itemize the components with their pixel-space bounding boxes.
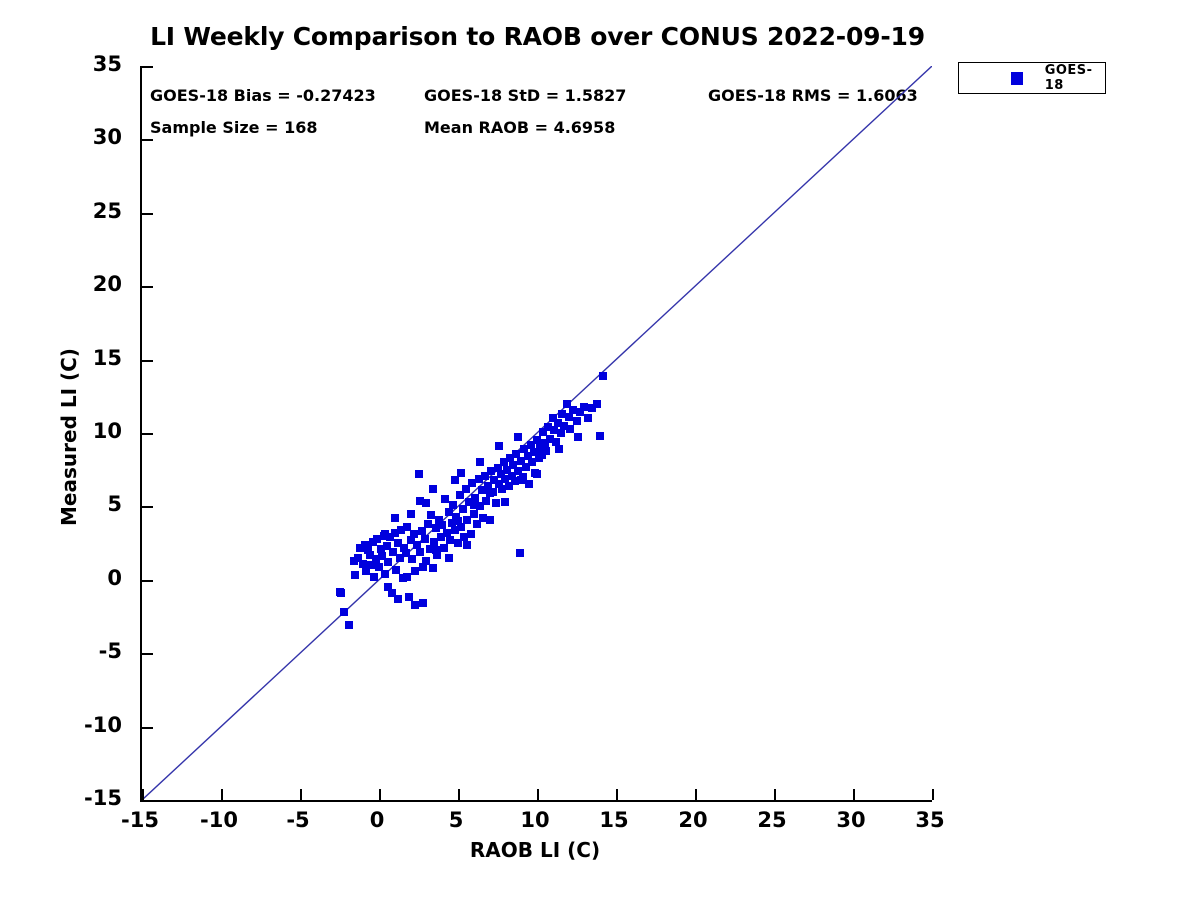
x-ticklabel: 5 (411, 808, 501, 832)
data-point (351, 571, 359, 579)
data-point (419, 563, 427, 571)
y-tick (142, 580, 153, 582)
data-point (459, 505, 467, 513)
y-axis-label: Measured LI (C) (57, 70, 81, 804)
y-tick (142, 727, 153, 729)
x-tick (774, 789, 776, 800)
data-point (463, 541, 471, 549)
y-tick (142, 800, 153, 802)
one-to-one-reference-line (142, 66, 932, 800)
x-tick (379, 789, 381, 800)
scatter-plot-figure: LI Weekly Comparison to RAOB over CONUS … (0, 0, 1200, 900)
data-point (441, 495, 449, 503)
plot-canvas (142, 66, 932, 800)
data-point (415, 470, 423, 478)
y-tick (142, 139, 153, 141)
data-point (445, 554, 453, 562)
data-point (429, 485, 437, 493)
data-point (542, 447, 550, 455)
data-point (340, 608, 348, 616)
data-point (424, 520, 432, 528)
data-point (533, 470, 541, 478)
data-point (416, 497, 424, 505)
data-point (337, 589, 345, 597)
page-title: LI Weekly Comparison to RAOB over CONUS … (0, 22, 1075, 51)
data-point (599, 372, 607, 380)
data-point (492, 499, 500, 507)
plot-area (140, 66, 932, 802)
y-tick (142, 653, 153, 655)
data-point (411, 601, 419, 609)
y-tick (142, 66, 153, 68)
data-point (470, 510, 478, 518)
data-point (384, 558, 392, 566)
data-point (345, 621, 353, 629)
x-tick (616, 789, 618, 800)
data-point (411, 567, 419, 575)
data-point (384, 583, 392, 591)
data-point (573, 417, 581, 425)
y-tick (142, 286, 153, 288)
x-ticklabel: -5 (253, 808, 343, 832)
data-point (514, 433, 522, 441)
data-point (489, 488, 497, 496)
x-ticklabel: 20 (648, 808, 738, 832)
data-point (370, 573, 378, 581)
data-point (440, 544, 448, 552)
x-tick (221, 789, 223, 800)
data-point (451, 476, 459, 484)
data-point (445, 508, 453, 516)
data-point (416, 548, 424, 556)
legend-label-goes18: GOES-18 (1045, 63, 1105, 93)
y-tick (142, 213, 153, 215)
x-ticklabel: -15 (95, 808, 185, 832)
x-tick (142, 789, 144, 800)
y-tick (142, 360, 153, 362)
x-tick (932, 789, 934, 800)
data-point (407, 510, 415, 518)
data-point (467, 530, 475, 538)
data-point (574, 433, 582, 441)
data-point (391, 514, 399, 522)
data-point (525, 480, 533, 488)
data-point (555, 445, 563, 453)
data-point (486, 516, 494, 524)
x-ticklabel: 15 (569, 808, 659, 832)
x-ticklabel: -10 (174, 808, 264, 832)
data-point (495, 442, 503, 450)
x-ticklabel: 35 (885, 808, 975, 832)
data-point (593, 400, 601, 408)
data-point (432, 546, 440, 554)
y-tick (142, 506, 153, 508)
x-tick (300, 789, 302, 800)
data-point (516, 549, 524, 557)
data-point (394, 595, 402, 603)
data-point (580, 403, 588, 411)
data-point (476, 458, 484, 466)
data-point (381, 530, 389, 538)
data-point (482, 497, 490, 505)
x-tick (853, 789, 855, 800)
y-tick (142, 433, 153, 435)
data-point (517, 476, 525, 484)
data-point (427, 511, 435, 519)
data-point (392, 566, 400, 574)
data-point (565, 413, 573, 421)
legend-swatch-goes18 (1011, 72, 1023, 85)
data-point (566, 425, 574, 433)
data-point (419, 599, 427, 607)
data-point (584, 414, 592, 422)
x-ticklabel: 30 (806, 808, 896, 832)
data-point (410, 530, 418, 538)
data-point (557, 429, 565, 437)
data-point (454, 517, 462, 525)
data-point (421, 535, 429, 543)
x-tick (537, 789, 539, 800)
data-point (449, 501, 457, 509)
data-point (470, 501, 478, 509)
x-axis-label: RAOB LI (C) (140, 838, 930, 862)
data-point (446, 536, 454, 544)
x-ticklabel: 10 (490, 808, 580, 832)
data-point (408, 555, 416, 563)
data-point (596, 432, 604, 440)
x-ticklabel: 25 (727, 808, 817, 832)
data-point (403, 573, 411, 581)
x-ticklabel: 0 (332, 808, 422, 832)
data-point (429, 564, 437, 572)
x-tick (695, 789, 697, 800)
x-tick (458, 789, 460, 800)
legend: GOES-18 (958, 62, 1106, 94)
data-point (381, 570, 389, 578)
data-point (501, 498, 509, 506)
